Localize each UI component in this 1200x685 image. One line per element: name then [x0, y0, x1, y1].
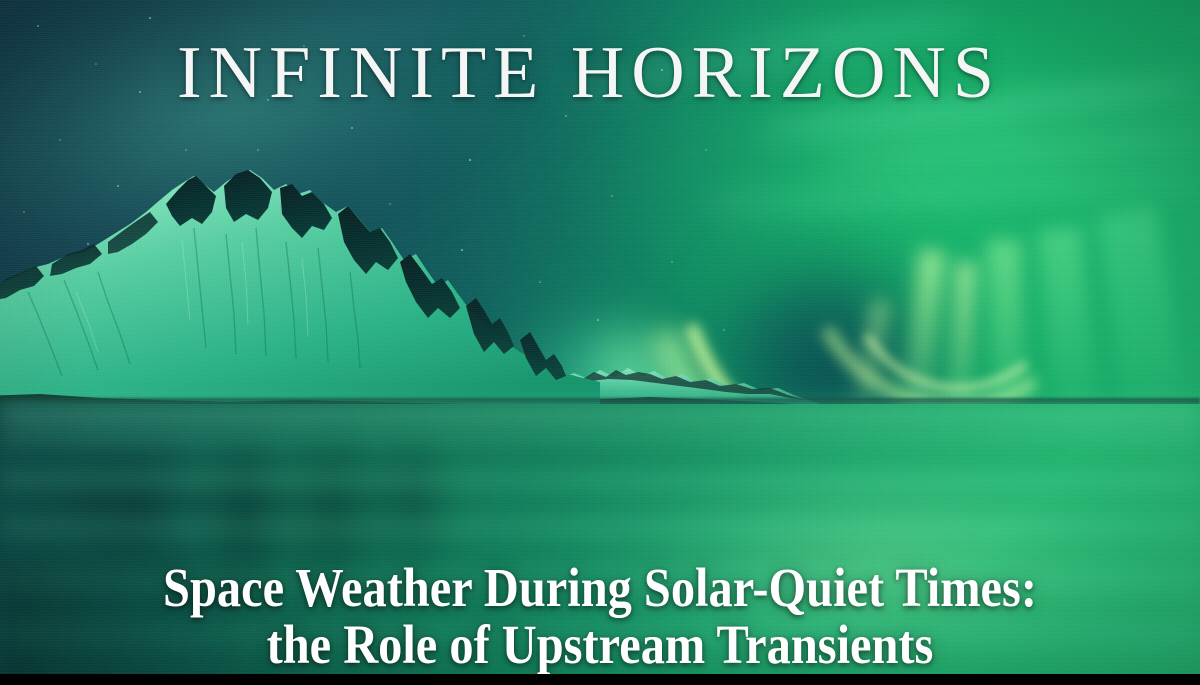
- vestrahorn-mountain: [0, 168, 600, 413]
- brand-title: INFINITE HORIZONS: [0, 36, 1200, 110]
- letterbox-bar: [0, 674, 1200, 685]
- paper-title: Space Weather During Solar-Quiet Times: …: [72, 559, 1128, 673]
- poster-canvas: INFINITE HORIZONS Space Weather During S…: [0, 0, 1200, 685]
- water-band: [0, 406, 1200, 422]
- paper-title-line-1: Space Weather During Solar-Quiet Times:: [72, 559, 1128, 616]
- paper-title-line-2: the Role of Upstream Transients: [72, 616, 1128, 673]
